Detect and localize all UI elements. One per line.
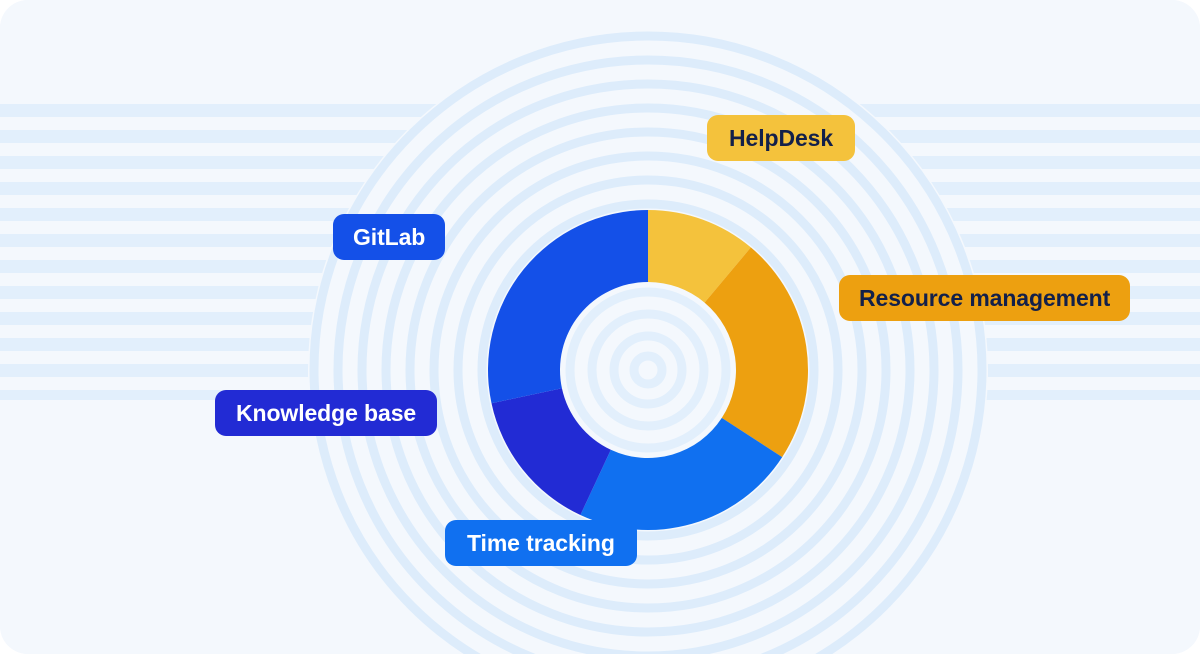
diagram-canvas: HelpDesk Resource management GitLab Know… <box>0 0 1200 654</box>
label-resource-management[interactable]: Resource management <box>839 275 1130 321</box>
label-helpdesk-text: HelpDesk <box>729 127 833 150</box>
donut-segment-gitlab[interactable] <box>488 210 648 403</box>
donut-segments <box>488 210 808 530</box>
label-knowledge-base-text: Knowledge base <box>236 402 416 425</box>
label-knowledge-base[interactable]: Knowledge base <box>215 390 437 436</box>
label-time-tracking-text: Time tracking <box>467 532 615 555</box>
label-gitlab[interactable]: GitLab <box>333 214 445 260</box>
label-gitlab-text: GitLab <box>353 226 425 249</box>
label-helpdesk[interactable]: HelpDesk <box>707 115 855 161</box>
label-resource-management-text: Resource management <box>859 287 1110 310</box>
label-time-tracking[interactable]: Time tracking <box>445 520 637 566</box>
